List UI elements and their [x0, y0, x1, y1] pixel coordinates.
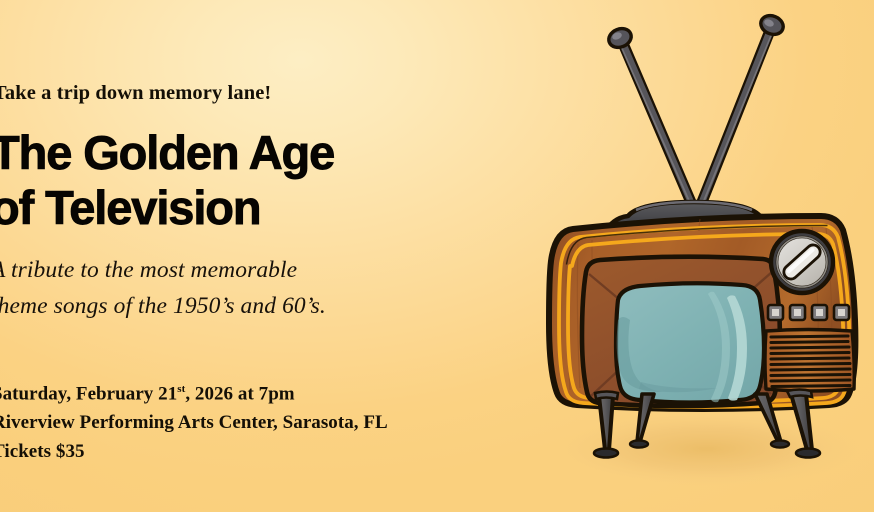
tuner-dial-knob — [771, 231, 833, 293]
poster-canvas: Take a trip down memory lane! The Golden… — [0, 0, 874, 512]
subtitle-text: A tribute to the most memorable theme so… — [0, 252, 461, 324]
control-button — [834, 305, 849, 320]
page-title: The Golden Age of Television — [0, 125, 471, 235]
subtitle-line-2: theme songs of the 1950’s and 60’s. — [0, 293, 326, 319]
control-button — [768, 305, 783, 320]
crt-screen — [616, 283, 764, 402]
event-venue-line: Riverview Performing Arts Center, Saraso… — [0, 408, 462, 437]
event-date-suffix: , 2026 at 7pm — [185, 383, 294, 404]
event-date-line: Saturday, February 21st, 2026 at 7pm — [0, 375, 462, 408]
ticket-price-line: Tickets $35 — [0, 437, 462, 466]
antenna-assembly — [606, 12, 786, 220]
speaker-grille — [765, 330, 854, 392]
control-button — [812, 305, 827, 320]
event-date-prefix: Saturday, February 21 — [0, 383, 177, 404]
control-button — [790, 305, 805, 320]
subtitle-line-1: A tribute to the most memorable — [0, 257, 297, 283]
poster-text-column: Take a trip down memory lane! The Golden… — [0, 0, 463, 512]
kicker-text: Take a trip down memory lane! — [0, 82, 271, 105]
event-details: Saturday, February 21st, 2026 at 7pm Riv… — [0, 375, 462, 466]
headline-line-1: The Golden Age — [0, 126, 334, 179]
headline-line-2: of Television — [0, 180, 471, 235]
